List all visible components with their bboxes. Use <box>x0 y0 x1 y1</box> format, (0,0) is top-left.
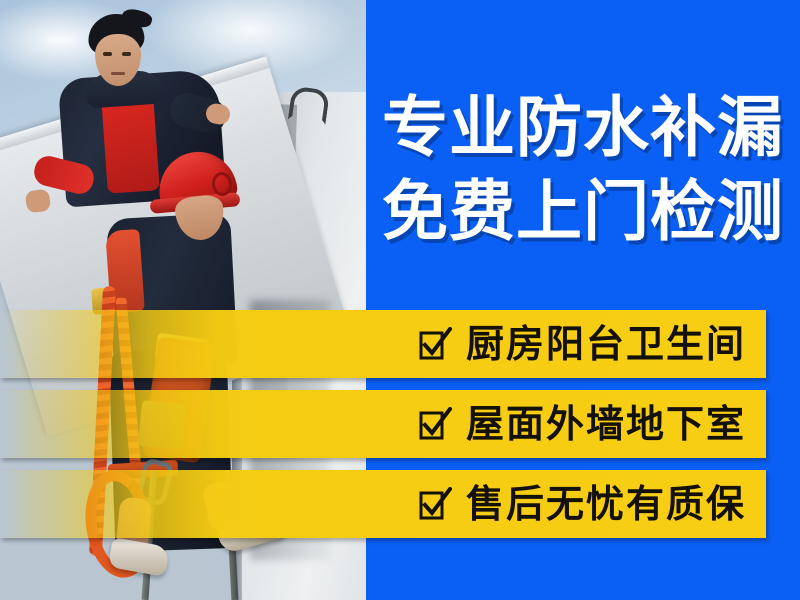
headline-line-2: 免费上门检测 <box>366 170 800 254</box>
waterproofing-service-advertisement: 专业防水补漏 免费上门检测 厨房阳台卫生间 屋面外墙地下室 售后无忧有质保 <box>0 0 800 600</box>
feature-bar-1-label: 厨房阳台卫生间 <box>466 325 746 363</box>
upper-worker-mouth <box>111 72 125 75</box>
feature-bar-3: 售后无忧有质保 <box>0 470 766 538</box>
upper-worker-left-eye <box>103 52 112 56</box>
headline-line-1: 专业防水补漏 <box>382 89 784 166</box>
checkbox-checked-icon <box>418 487 452 521</box>
feature-bar-2: 屋面外墙地下室 <box>0 390 766 458</box>
feature-bar-1: 厨房阳台卫生间 <box>0 310 766 378</box>
checkbox-checked-icon <box>418 407 452 441</box>
feature-bar-3-label: 售后无忧有质保 <box>466 485 746 523</box>
feature-bar-2-label: 屋面外墙地下室 <box>466 405 746 443</box>
headline-block: 专业防水补漏 免费上门检测 <box>366 86 800 254</box>
checkbox-checked-icon <box>418 327 452 361</box>
upper-worker-right-eye <box>122 52 131 56</box>
